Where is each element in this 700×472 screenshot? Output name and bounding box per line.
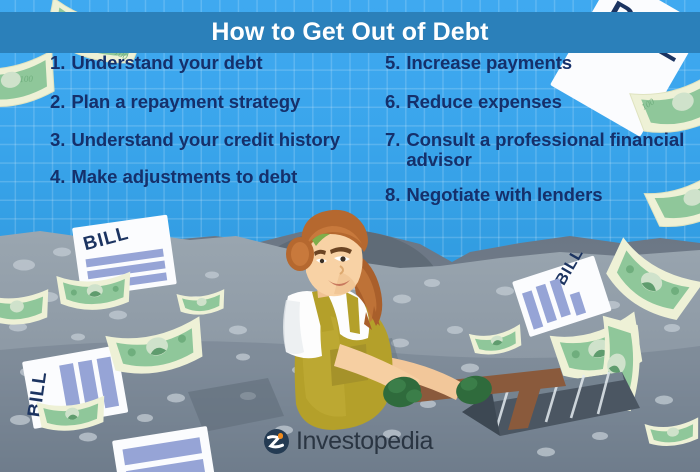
list-item-label: Increase payments: [406, 53, 572, 74]
list-item-number: 6.: [385, 92, 400, 113]
list-item: 5. Increase payments: [385, 53, 685, 74]
investopedia-logo: Investopedia: [264, 429, 433, 454]
list-item-label: Consult a professional financial advisor: [406, 130, 685, 172]
list-item-number: 7.: [385, 130, 400, 172]
list-item: 6. Reduce expenses: [385, 92, 685, 113]
list-item: 2. Plan a repayment strategy: [50, 92, 390, 113]
list-item-number: 2.: [50, 92, 65, 113]
list-item: 8. Negotiate with lenders: [385, 185, 685, 206]
list-item-number: 1.: [50, 53, 65, 74]
list-item-label: Make adjustments to debt: [71, 167, 297, 188]
investopedia-wordmark: Investopedia: [296, 429, 433, 454]
steps-column-right: 5. Increase payments 6. Reduce expenses …: [385, 53, 685, 223]
list-item-number: 5.: [385, 53, 400, 74]
list-item: 7. Consult a professional financial advi…: [385, 130, 685, 172]
investopedia-swoosh-icon: [264, 429, 289, 454]
infographic-poster: How to Get Out of Debt 100 100: [0, 0, 700, 472]
list-item: 4. Make adjustments to debt: [50, 167, 390, 188]
investopedia-dot-icon: [278, 433, 284, 439]
list-item-label: Plan a repayment strategy: [71, 92, 300, 113]
page-title: How to Get Out of Debt: [211, 20, 488, 45]
list-item-number: 4.: [50, 167, 65, 188]
list-item-label: Understand your credit history: [71, 130, 340, 151]
list-item-label: Negotiate with lenders: [406, 185, 602, 206]
investopedia-mark-icon: [264, 429, 289, 454]
list-item: 3. Understand your credit history: [50, 130, 390, 151]
list-item-label: Reduce expenses: [406, 92, 562, 113]
list-item: 1. Understand your debt: [50, 53, 390, 74]
title-band: How to Get Out of Debt: [0, 12, 700, 53]
list-item-number: 3.: [50, 130, 65, 151]
steps-column-left: 1. Understand your debt 2. Plan a repaym…: [50, 53, 390, 205]
list-item-number: 8.: [385, 185, 400, 206]
list-item-label: Understand your debt: [71, 53, 262, 74]
